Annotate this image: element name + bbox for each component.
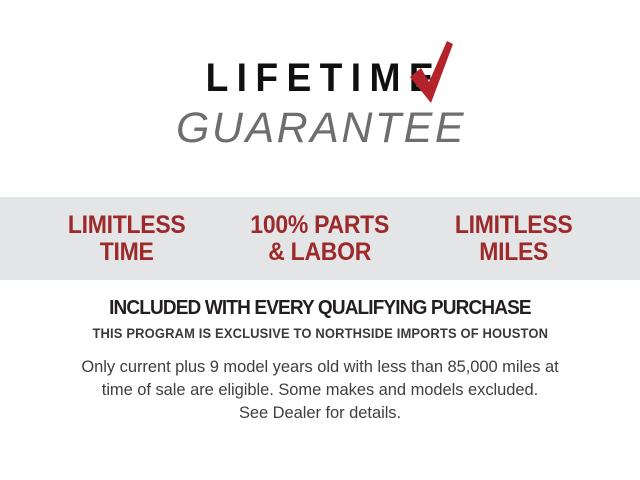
fineprint-line: Only current plus 9 model years old with… [40, 356, 600, 379]
features-band: LIMITLESS TIME 100% PARTS & LABOR LIMITL… [0, 197, 640, 280]
lifetime-guarantee-ad: LIFETIME GUARANTEE LIMITLESS TIME 100% P… [0, 0, 640, 480]
logo-lockup: LIFETIME [188, 58, 451, 98]
feature-line1: LIMITLESS [38, 212, 216, 239]
fineprint-line: See Dealer for details. [40, 402, 600, 425]
fineprint: Only current plus 9 model years old with… [40, 356, 600, 426]
feature-line2: TIME [38, 239, 216, 266]
logo-word-lifetime: LIFETIME [198, 58, 443, 98]
feature-line1: 100% PARTS [231, 212, 409, 239]
feature-line2: & LABOR [231, 239, 409, 266]
logo-word-guarantee: GUARANTEE [174, 107, 466, 150]
feature-limitless-miles: LIMITLESS MILES [424, 212, 602, 266]
subheadline: THIS PROGRAM IS EXCLUSIVE TO NORTHSIDE I… [92, 327, 548, 341]
headline: INCLUDED WITH EVERY QUALIFYING PURCHASE [109, 298, 531, 318]
feature-limitless-time: LIMITLESS TIME [38, 212, 216, 266]
copy-block: INCLUDED WITH EVERY QUALIFYING PURCHASE … [0, 280, 640, 480]
feature-parts-and-labor: 100% PARTS & LABOR [231, 212, 409, 266]
feature-line2: MILES [424, 239, 602, 266]
feature-line1: LIMITLESS [424, 212, 602, 239]
fineprint-line: time of sale are eligible. Some makes an… [40, 379, 600, 402]
logo-block: LIFETIME GUARANTEE [0, 0, 640, 197]
